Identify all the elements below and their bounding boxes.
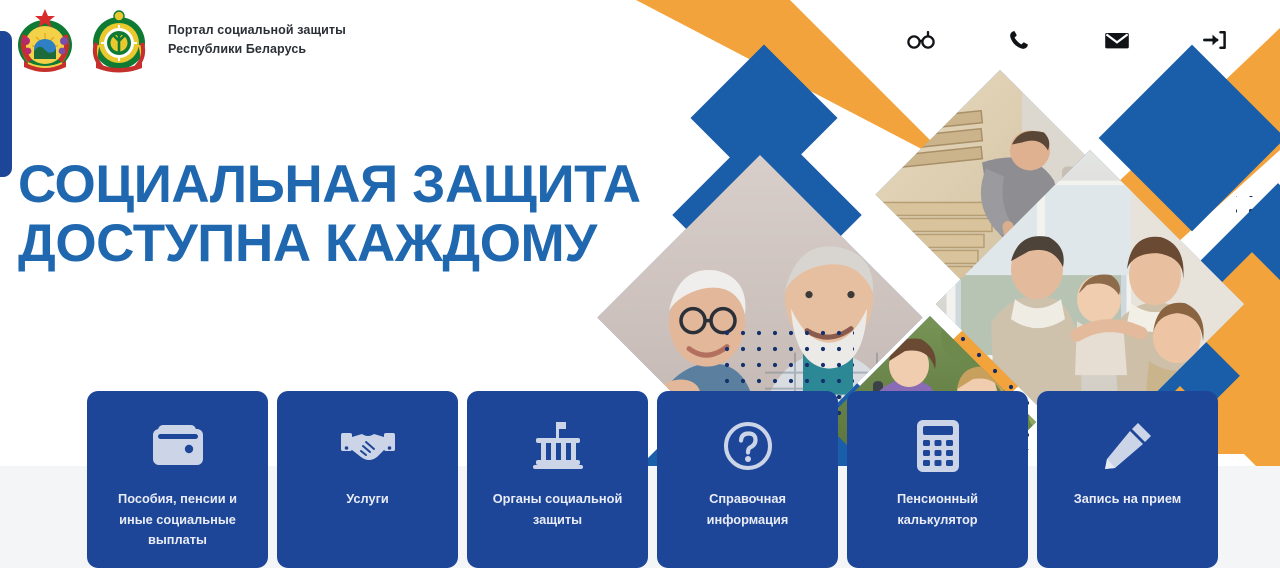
login-icon[interactable] xyxy=(1200,25,1230,55)
card-label: Пенсионный калькулятор xyxy=(862,489,1014,530)
site-title-line-2: Республики Беларусь xyxy=(168,40,346,59)
quick-link-card-services[interactable]: Услуги xyxy=(277,391,458,568)
header-actions xyxy=(906,25,1252,55)
mail-icon[interactable] xyxy=(1102,25,1132,55)
belarus-coat-of-arms-icon xyxy=(14,7,76,73)
brand-block[interactable]: Портал социальной защиты Республики Бела… xyxy=(14,7,346,73)
site-header: Портал социальной защиты Республики Бела… xyxy=(0,0,1280,80)
site-title-line-1: Портал социальной защиты xyxy=(168,21,346,40)
quick-link-card-reference[interactable]: Справочная информация xyxy=(657,391,838,568)
card-label: Услуги xyxy=(292,489,444,510)
site-title: Портал социальной защиты Республики Бела… xyxy=(168,21,346,60)
card-label: Органы социальной защиты xyxy=(482,489,634,530)
ministry-of-labour-emblem-icon xyxy=(88,7,150,73)
quick-links-card-row: Пособия, пенсии и иные социальные выплат… xyxy=(0,391,1280,568)
phone-icon[interactable] xyxy=(1004,25,1034,55)
handshake-icon xyxy=(339,417,397,475)
card-label: Справочная информация xyxy=(672,489,824,530)
card-label: Пособия, пенсии и иные социальные выплат… xyxy=(102,489,254,551)
quick-link-card-agencies[interactable]: Органы социальной защиты xyxy=(467,391,648,568)
pencil-icon xyxy=(1103,417,1153,475)
calculator-icon xyxy=(916,417,960,475)
quick-link-card-calculator[interactable]: Пенсионный калькулятор xyxy=(847,391,1028,568)
quick-link-card-payments[interactable]: Пособия, пенсии и иные социальные выплат… xyxy=(87,391,268,568)
bank-icon xyxy=(532,417,584,475)
hero-headline: СОЦИАЛЬНАЯ ЗАЩИТА ДОСТУПНА КАЖДОМУ xyxy=(18,155,641,274)
card-label: Запись на прием xyxy=(1052,489,1204,510)
glasses-icon[interactable] xyxy=(906,25,936,55)
quick-link-card-appointment[interactable]: Запись на прием xyxy=(1037,391,1218,568)
question-icon xyxy=(723,417,773,475)
wallet-icon xyxy=(150,417,206,475)
